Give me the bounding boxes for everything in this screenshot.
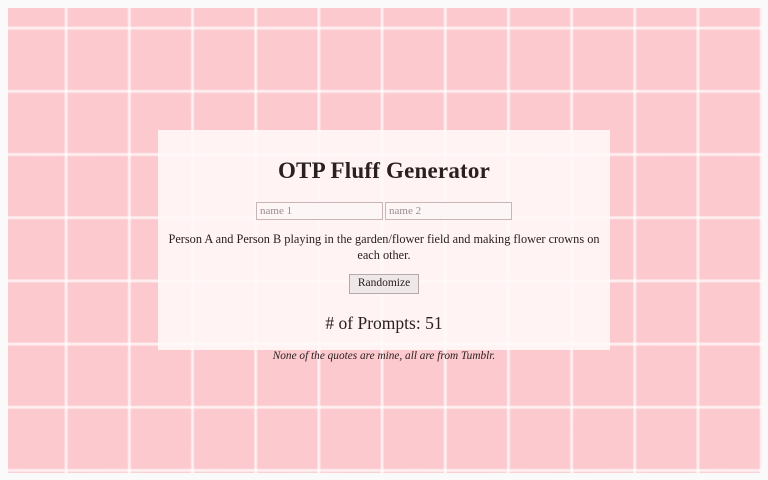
footer-note: None of the quotes are mine, all are fro… <box>158 333 610 364</box>
page-title: OTP Fluff Generator <box>158 130 610 183</box>
generator-card: OTP Fluff Generator Person A and Person … <box>158 130 610 350</box>
name-2-input[interactable] <box>385 202 512 220</box>
randomize-button-row: Randomize <box>158 263 610 294</box>
name-inputs-row <box>158 183 610 220</box>
name-1-input[interactable] <box>256 202 383 220</box>
prompt-count-label: # of Prompts: 51 <box>158 294 610 333</box>
prompt-text: Person A and Person B playing in the gar… <box>158 220 610 263</box>
generator-card-content: OTP Fluff Generator Person A and Person … <box>158 130 610 363</box>
randomize-button[interactable]: Randomize <box>349 274 419 294</box>
page-background: OTP Fluff Generator Person A and Person … <box>8 8 762 473</box>
